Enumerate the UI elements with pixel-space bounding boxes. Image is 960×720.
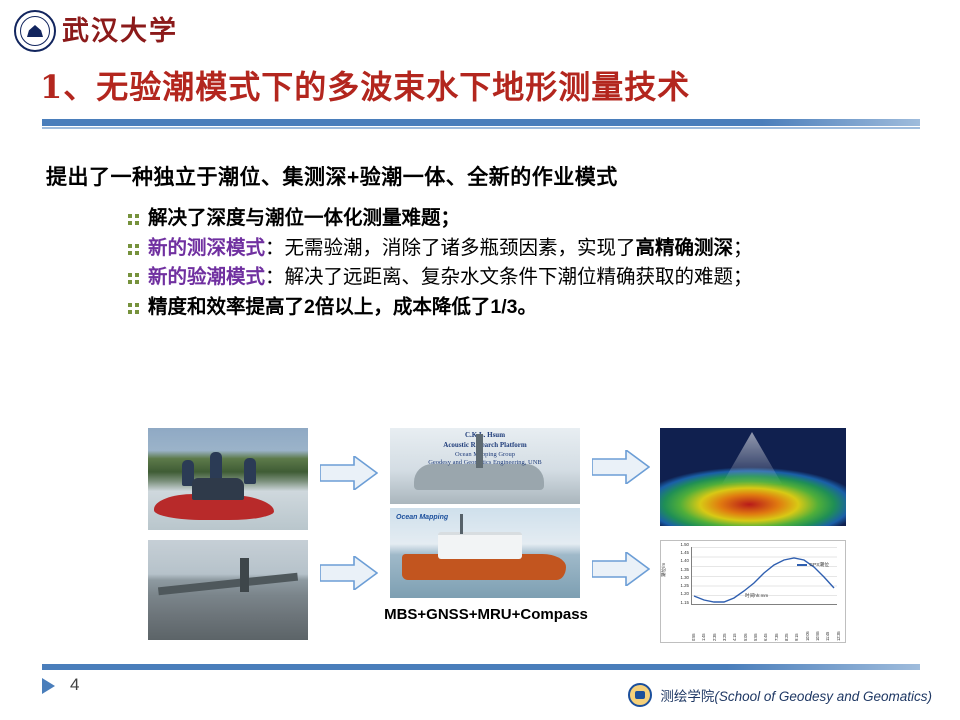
lead-statement: 提出了一种独立于潮位、集测深+验潮一体、全新的作业模式 (46, 161, 618, 191)
survey-vessel-photo: Ocean Mapping (390, 508, 580, 598)
bullet-1-text: 解决了深度与潮位一体化测量难题； (148, 205, 460, 233)
x-tick: 2:35 (712, 607, 717, 641)
bullet-3-body: ：解决了远距离、复杂水文条件下潮位精确获取的难题； (265, 266, 753, 288)
bullet-marker-icon (128, 303, 139, 314)
arrow-right-icon (592, 450, 650, 484)
x-tick: 0:55 (691, 607, 696, 641)
seabed-terrain-render (660, 428, 846, 526)
footer-school-name: 测绘学院(School of Geodesy and Geomatics) (660, 685, 932, 705)
system-composition-caption: MBS+GNSS+MRU+Compass (376, 606, 596, 623)
y-tick: 1.15 (680, 601, 689, 605)
page-title: 1、无验潮模式下的多波束水下地形测量技术 (40, 62, 690, 108)
university-name: 武汉大学 (62, 18, 178, 45)
caption-line-3: Ocean Mapping Group (455, 451, 515, 458)
footer-marker-icon (42, 678, 55, 694)
bullet-3-highlight: 新的验潮模式 (148, 266, 265, 288)
x-tick: 5:55 (753, 607, 758, 641)
x-tick: 8:25 (784, 607, 789, 641)
y-tick: 1.30 (680, 576, 689, 580)
caption-line-1: C.K.L. Hsum (465, 431, 505, 439)
x-tick: 5:05 (743, 607, 748, 641)
tide-chart: 1.50 1.45 1.40 1.35 1.30 1.25 1.20 1.15 … (660, 540, 846, 643)
y-tick: 1.45 (680, 551, 689, 555)
bullet-3-text: 新的验潮模式：解决了远距离、复杂水文条件下潮位精确获取的难题； (148, 264, 753, 292)
university-logo: 武汉大学 (14, 10, 178, 52)
x-tick: 10:05 (805, 607, 810, 641)
chart-x-tick-labels: 0:55 1:45 2:35 3:25 4:15 5:05 5:55 6:45 … (691, 607, 841, 641)
x-tick: 3:25 (722, 607, 727, 641)
school-name-en: (School of Geodesy and Geomatics) (714, 689, 932, 704)
person-figure (244, 458, 256, 484)
list-item: 精度和效率提高了2倍以上，成本降低了1/3。 (128, 294, 870, 322)
person-figure (210, 452, 222, 482)
title-divider-thin (42, 127, 920, 129)
tide-gauge-photo (148, 540, 308, 640)
arrow-right-icon (320, 556, 378, 590)
title-divider (42, 119, 920, 126)
school-name-cn: 测绘学院 (660, 689, 714, 704)
bullet-4-text: 精度和效率提高了2倍以上，成本降低了1/3。 (148, 294, 537, 322)
y-tick: 1.20 (680, 592, 689, 596)
bullet-2-highlight: 新的测深模式 (148, 237, 265, 259)
bullet-marker-icon (128, 244, 139, 255)
x-tick: 1:45 (701, 607, 706, 641)
acoustic-platform-photo: C.K.L. Hsum Acoustic Research Platform O… (390, 428, 580, 504)
footer-divider (42, 664, 920, 670)
x-tick: 10:55 (815, 607, 820, 641)
chart-legend: GPS潮位 (797, 561, 829, 568)
vessel-cabin (438, 532, 522, 559)
vessel-mast (460, 514, 463, 534)
footer-branding: 测绘学院(School of Geodesy and Geomatics) (628, 683, 932, 707)
arrow-right-icon (592, 552, 650, 586)
legend-label: GPS潮位 (809, 563, 829, 568)
vessel-brand-label: Ocean Mapping (396, 514, 448, 521)
list-item: 新的验潮模式：解决了远距离、复杂水文条件下潮位精确获取的难题； (128, 264, 870, 292)
chart-x-axis-title: 时间hh:mm (745, 593, 768, 599)
x-tick: 11:45 (825, 607, 830, 641)
list-item: 解决了深度与潮位一体化测量难题； (128, 205, 870, 233)
person-figure (182, 460, 194, 486)
caption-line-4: Geodesy and Geomatics Engineering, UNB (428, 459, 542, 466)
y-tick: 1.40 (680, 559, 689, 563)
x-tick: 7:35 (774, 607, 779, 641)
school-emblem-icon (628, 683, 652, 707)
bullet-marker-icon (128, 214, 139, 225)
x-tick: 6:45 (763, 607, 768, 641)
bullet-marker-icon (128, 273, 139, 284)
chart-y-tick-labels: 1.50 1.45 1.40 1.35 1.30 1.25 1.20 1.15 (671, 543, 689, 605)
list-item: 新的测深模式：无需验潮，消除了诸多瓶颈因素，实现了高精确测深； (128, 235, 870, 263)
survey-boat-photo (148, 428, 308, 530)
y-tick: 1.50 (680, 543, 689, 547)
bullet-2-text: 新的测深模式：无需验潮，消除了诸多瓶颈因素，实现了高精确测深； (148, 235, 753, 263)
x-tick: 12:35 (836, 607, 841, 641)
arrow-right-icon (320, 456, 378, 490)
x-tick: 9:15 (794, 607, 799, 641)
bullet-list: 解决了深度与潮位一体化测量难题； 新的测深模式：无需验潮，消除了诸多瓶颈因素，实… (128, 205, 870, 324)
legend-swatch (797, 564, 807, 566)
chart-y-axis-title: 潮位/m (661, 563, 667, 577)
slide-root: 武汉大学 1、无验潮模式下的多波束水下地形测量技术 提出了一种独立于潮位、集测深… (0, 0, 960, 720)
bullet-2-body: ：无需验潮，消除了诸多瓶颈因素，实现了 (265, 237, 636, 259)
page-number: 4 (70, 675, 79, 695)
acoustic-platform-caption: C.K.L. Hsum Acoustic Research Platform O… (390, 431, 580, 468)
x-tick: 4:15 (732, 607, 737, 641)
bullet-2-emphasis: 高精确测深 (636, 237, 734, 259)
y-tick: 1.25 (680, 584, 689, 588)
caption-line-2: Acoustic Research Platform (443, 441, 526, 449)
figure-group: C.K.L. Hsum Acoustic Research Platform O… (148, 428, 848, 643)
bullet-2-tail: ； (733, 237, 753, 259)
wuhan-university-seal-icon (14, 10, 56, 52)
y-tick: 1.35 (680, 568, 689, 572)
